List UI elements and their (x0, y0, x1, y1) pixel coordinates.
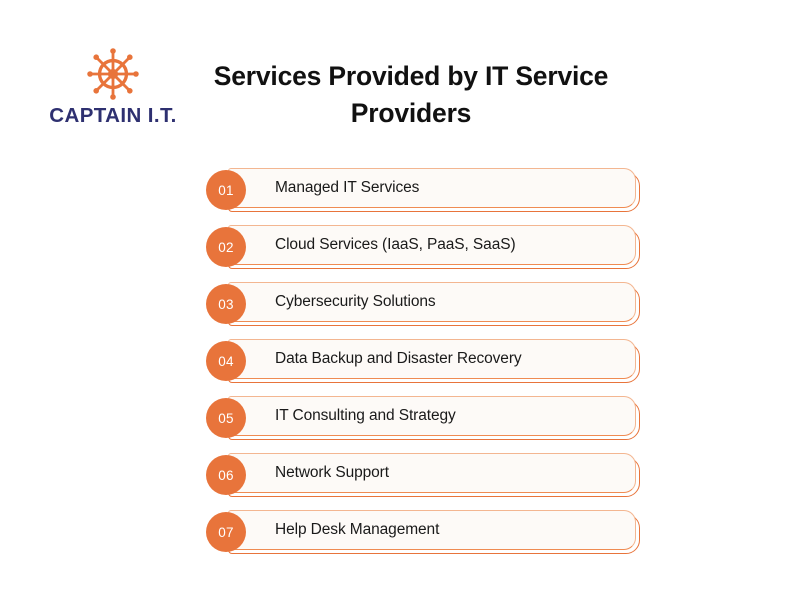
service-label: Managed IT Services (275, 179, 419, 197)
service-label: Network Support (275, 464, 389, 482)
service-card[interactable]: Data Backup and Disaster Recovery (228, 339, 636, 379)
service-number: 05 (218, 411, 234, 426)
brand-wordmark: CAPTAIN I.T. (38, 104, 188, 128)
service-number: 04 (218, 354, 234, 369)
service-card[interactable]: Network Support (228, 453, 636, 493)
service-label: Cybersecurity Solutions (275, 293, 436, 311)
service-card[interactable]: IT Consulting and Strategy (228, 396, 636, 436)
service-card[interactable]: Help Desk Management (228, 510, 636, 550)
service-number: 06 (218, 468, 234, 483)
service-label: Cloud Services (IaaS, PaaS, SaaS) (275, 236, 516, 254)
service-number: 03 (218, 297, 234, 312)
service-label: Data Backup and Disaster Recovery (275, 350, 522, 368)
list-item[interactable]: Managed IT Services 01 (206, 168, 636, 208)
service-number-badge: 06 (206, 455, 246, 495)
page-header: CAPTAIN I.T. Services Provided by IT Ser… (0, 0, 800, 150)
service-number-badge: 01 (206, 170, 246, 210)
service-number-badge: 05 (206, 398, 246, 438)
service-number-badge: 04 (206, 341, 246, 381)
ship-wheel-icon (85, 46, 141, 102)
service-number-badge: 02 (206, 227, 246, 267)
service-number-badge: 03 (206, 284, 246, 324)
list-item[interactable]: Network Support 06 (206, 453, 636, 493)
services-list: Managed IT Services 01 Cloud Services (I… (206, 168, 636, 550)
service-number: 02 (218, 240, 234, 255)
list-item[interactable]: Data Backup and Disaster Recovery 04 (206, 339, 636, 379)
service-number-badge: 07 (206, 512, 246, 552)
service-number: 07 (218, 525, 234, 540)
list-item[interactable]: Cloud Services (IaaS, PaaS, SaaS) 02 (206, 225, 636, 265)
service-card[interactable]: Cloud Services (IaaS, PaaS, SaaS) (228, 225, 636, 265)
list-item[interactable]: IT Consulting and Strategy 05 (206, 396, 636, 436)
service-label: IT Consulting and Strategy (275, 407, 456, 425)
service-label: Help Desk Management (275, 521, 439, 539)
list-item[interactable]: Cybersecurity Solutions 03 (206, 282, 636, 322)
brand-logo: CAPTAIN I.T. (38, 46, 188, 128)
page-title: Services Provided by IT Service Provider… (196, 58, 626, 132)
service-number: 01 (218, 183, 234, 198)
service-card[interactable]: Managed IT Services (228, 168, 636, 208)
service-card[interactable]: Cybersecurity Solutions (228, 282, 636, 322)
list-item[interactable]: Help Desk Management 07 (206, 510, 636, 550)
